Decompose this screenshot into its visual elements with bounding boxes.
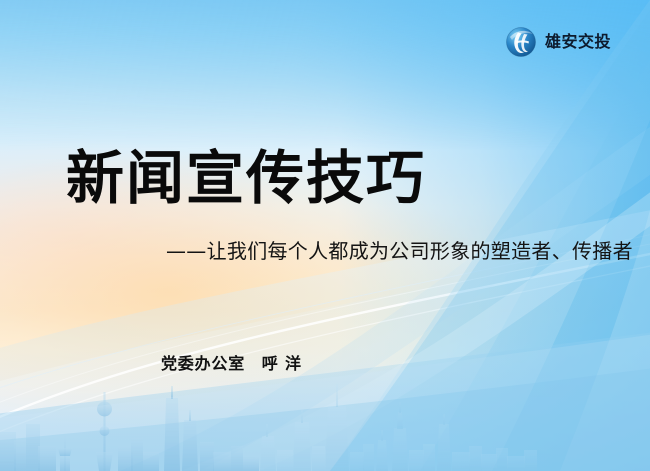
title-slide: 雄安交投 新闻宣传技巧 ——让我们每个人都成为公司形象的塑造者、传播者 党委办公… <box>0 0 650 471</box>
brand-logo: 雄安交投 <box>505 26 611 58</box>
brand-name: 雄安交投 <box>545 34 611 50</box>
xiongan-jiaotou-globe-logo-icon <box>505 26 537 58</box>
slide-content: 雄安交投 新闻宣传技巧 ——让我们每个人都成为公司形象的塑造者、传播者 党委办公… <box>0 0 650 471</box>
page-title: 新闻宣传技巧 <box>66 145 426 212</box>
slide-subtitle: ——让我们每个人都成为公司形象的塑造者、传播者 <box>166 239 633 264</box>
presenter-line: 党委办公室 呼 洋 <box>161 356 302 372</box>
